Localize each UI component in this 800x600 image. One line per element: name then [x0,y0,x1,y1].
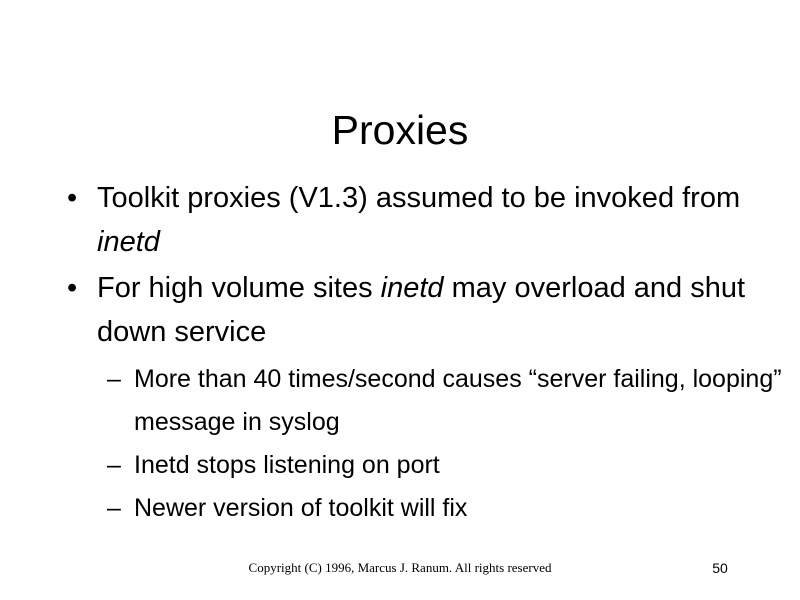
bullet-marker-dash: – [107,358,134,401]
bullet-marker-dash: – [107,487,134,530]
slide-page-number: 50 [690,559,750,577]
sub-bullet-item-2-text: Inetd stops listening on port [134,451,440,479]
bullet-marker-dot: • [67,266,77,310]
sub-bullet-item-1-text: More than 40 times/second causes “server… [134,365,782,436]
bullet-marker-dash: – [107,444,134,487]
bullet-marker-dot: • [67,176,77,220]
bullet-item-1-italic-term: inetd [97,226,160,258]
bullet-item-1-text-lead: Toolkit proxies (V1.3) assumed to be inv… [97,182,740,214]
slide-body: • Toolkit proxies (V1.3) assumed to be i… [0,176,800,530]
bullet-item-2: • For high volume sites inetd may overlo… [0,266,797,354]
slide-title: Proxies [0,106,800,154]
sub-bullet-item-3: –Newer version of toolkit will fix [0,487,800,530]
bullet-item-2-text-lead: For high volume sites [97,272,381,304]
copyright-notice: Copyright (C) 1996, Marcus J. Ranum. All… [0,559,800,577]
sub-bullet-item-1: –More than 40 times/second causes “serve… [0,358,800,444]
bullet-item-1-text: Toolkit proxies (V1.3) assumed to be inv… [97,176,797,264]
bullet-item-1: • Toolkit proxies (V1.3) assumed to be i… [0,176,797,264]
presentation-slide: Proxies • Toolkit proxies (V1.3) assumed… [0,0,800,600]
sub-bullet-list: –More than 40 times/second causes “serve… [0,358,800,530]
bullet-item-2-text: For high volume sites inetd may overload… [97,266,797,354]
bullet-item-2-italic-term: inetd [381,272,444,304]
sub-bullet-item-3-text: Newer version of toolkit will fix [134,494,467,522]
sub-bullet-item-2: –Inetd stops listening on port [0,444,800,487]
